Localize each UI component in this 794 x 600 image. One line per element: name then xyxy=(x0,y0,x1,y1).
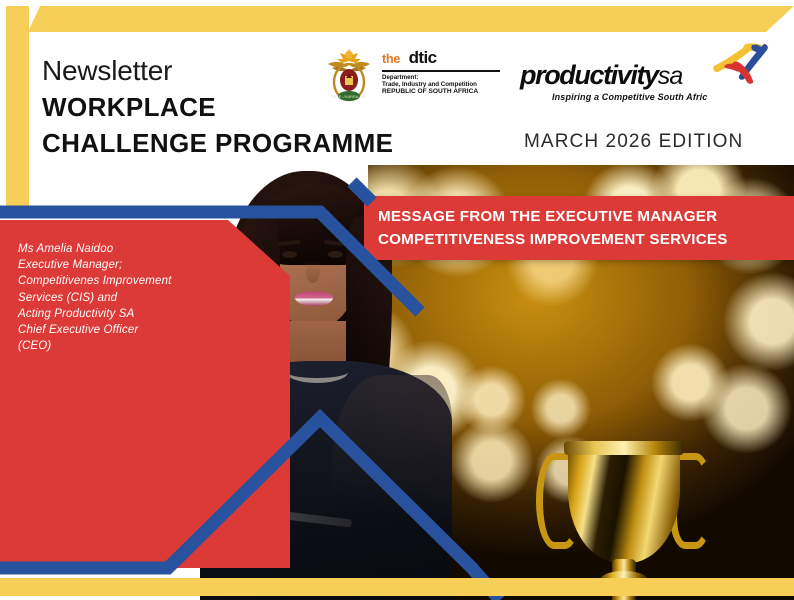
nose xyxy=(306,261,320,283)
eye-right xyxy=(328,251,343,258)
caption-line-4: Services (CIS) and xyxy=(18,290,218,306)
eye-left xyxy=(282,251,297,258)
dtic-name-text: dtic xyxy=(409,48,437,68)
productivity-sa-tagline: Inspiring a Competitive South Afric xyxy=(552,92,707,102)
caption-line-1: Ms Amelia Naidoo xyxy=(18,241,218,257)
productivity-sa-wordmark: productivitysa xyxy=(520,60,683,91)
productivity-sa-swoosh-icon xyxy=(712,42,770,84)
south-african-coat-of-arms-icon: !KE E: /XARRA //KE xyxy=(322,46,376,104)
productivity-sa-suffix: sa xyxy=(658,62,683,90)
dtic-department-name: Trade, Industry and Competition xyxy=(382,81,502,88)
trophy-rim xyxy=(564,441,684,455)
caption-line-5: Acting Productivity SA xyxy=(18,306,218,322)
edition-label: MARCH 2026 EDITION xyxy=(524,131,743,153)
message-banner-line-1: MESSAGE FROM THE EXECUTIVE MANAGER xyxy=(378,205,794,228)
page-title-line-2: CHALLENGE PROGRAMME xyxy=(42,128,393,159)
dtic-wordmark: the dtic Department: Trade, Industry and… xyxy=(382,48,502,95)
productivity-sa-logo: productivitysa Inspiring a Competitive S… xyxy=(520,42,768,104)
newsletter-page: Ms Amelia Naidoo Executive Manager; Comp… xyxy=(0,0,794,600)
dtic-the-text: the xyxy=(382,52,400,66)
dtic-divider xyxy=(382,70,500,72)
svg-text:!KE E: /XARRA //KE: !KE E: /XARRA //KE xyxy=(331,94,367,99)
productivity-word: productivity xyxy=(520,60,658,90)
portrait-caption-text: Ms Amelia Naidoo Executive Manager; Comp… xyxy=(18,241,218,354)
dtic-country-label: REPUBLIC OF SOUTH AFRICA xyxy=(382,88,502,95)
caption-line-6: Chief Executive Officer xyxy=(18,322,218,338)
page-kicker: Newsletter xyxy=(42,55,172,87)
message-banner-line-2: COMPETITIVENESS IMPROVEMENT SERVICES xyxy=(378,228,794,251)
yellow-top-bar xyxy=(0,6,794,32)
dtic-logo: !KE E: /XARRA //KE the dtic Department: … xyxy=(322,44,502,106)
page-title-line-1: WORKPLACE xyxy=(42,92,216,123)
gold-trophy-image xyxy=(530,433,720,600)
torso-shading xyxy=(332,375,452,600)
trophy-cup xyxy=(568,445,680,563)
yellow-bottom-bar xyxy=(0,578,794,596)
caption-line-2: Executive Manager; xyxy=(18,257,218,273)
caption-line-3: Competitivenes Improvement xyxy=(18,273,218,289)
necklace xyxy=(286,361,348,383)
dtic-department-label: Department: xyxy=(382,74,502,81)
caption-line-7: (CEO) xyxy=(18,338,218,354)
message-banner: MESSAGE FROM THE EXECUTIVE MANAGER COMPE… xyxy=(364,196,794,260)
